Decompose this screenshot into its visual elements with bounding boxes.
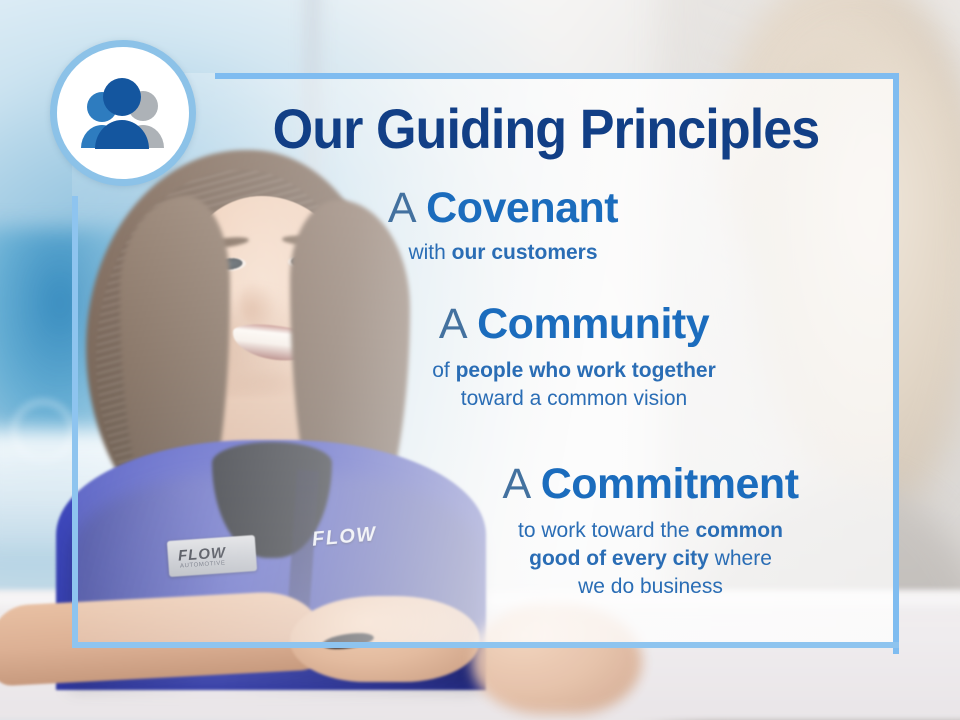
people-group-icon [50,40,196,186]
subline-part-bold: people who work together [456,359,716,382]
subline-row: we do business [428,573,873,601]
subline-part: to work toward the [518,519,695,542]
frame-border-left [72,196,78,648]
subline-row: good of every city where [428,545,873,573]
headline-keyword: Commitment [541,460,799,508]
frame-border-right [893,73,899,654]
principle-headline: A Commitment [428,462,873,507]
banner-canvas: FLOW AUTOMOTIVE FLOW [0,0,960,720]
headline-lead: A [388,184,426,232]
principle-subline: to work toward the common good of every … [428,517,873,601]
principle-covenant: A Covenant with our customers [338,186,668,267]
nose [240,282,276,326]
principle-headline: A Community [374,302,774,347]
principle-subline: with our customers [338,239,668,267]
frame-border-bottom [72,642,899,648]
principle-community: A Community of people who work together … [374,302,774,413]
frame-border-top [215,73,899,79]
subline-row: toward a common vision [374,385,774,413]
subline-part-bold: good of every city [529,547,709,570]
headline-lead: A [439,300,477,348]
subline-part-bold: common [695,519,783,542]
headline-keyword: Covenant [426,184,618,232]
subline-part: where [709,547,772,570]
subline-row: to work toward the common [428,517,873,545]
headline-lead: A [502,460,540,508]
subline-part: of [432,359,455,382]
subline-row: of people who work together [374,357,774,385]
principle-headline: A Covenant [338,186,668,231]
principle-subline: of people who work together toward a com… [374,357,774,413]
subline-part: with [408,241,451,264]
blurred-other-hand [472,604,642,714]
page-title: Our Guiding Principles [239,96,853,161]
headline-keyword: Community [477,300,709,348]
clasped-hands [290,596,480,682]
principle-commitment: A Commitment to work toward the common g… [428,462,873,601]
subline-part-bold: our customers [452,241,598,264]
